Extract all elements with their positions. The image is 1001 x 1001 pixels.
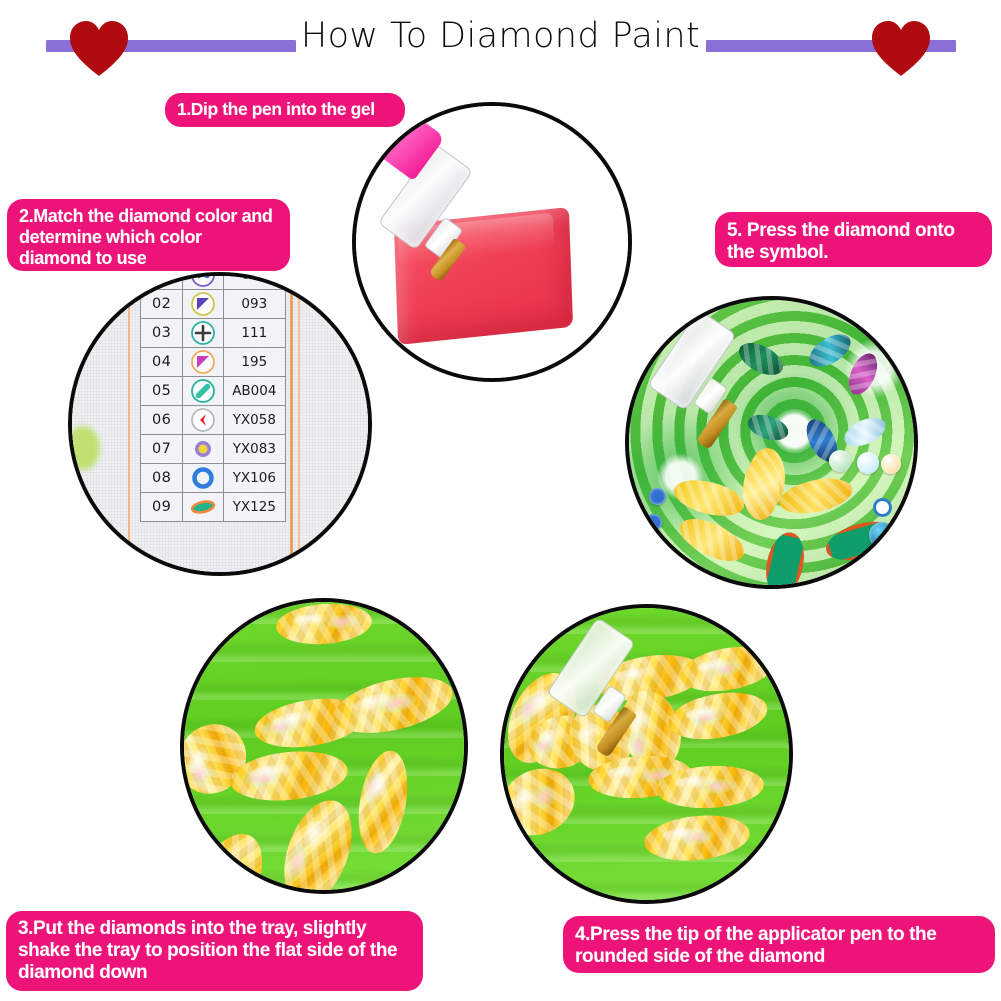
step-4-label: 4.Press the tip of the applicator pen to…	[563, 916, 995, 973]
color-chart-row: 08YX106	[141, 464, 286, 493]
rhinestone-dot	[829, 450, 851, 472]
triangle-circle-symbol	[183, 290, 223, 319]
rhinestone-dot	[857, 452, 879, 474]
dot-ring-symbol	[183, 435, 223, 464]
chart-cell-number: 05	[141, 377, 183, 406]
rhinestone-dot	[881, 454, 901, 474]
triangle-circle-symbol	[183, 348, 223, 377]
chart-cell-number: 04	[141, 348, 183, 377]
applicator-pen	[651, 308, 801, 488]
printed-dot	[873, 498, 892, 517]
double-dot-circle-symbol	[183, 272, 223, 290]
ring-circle-symbol	[183, 464, 223, 493]
diamond-gem	[275, 601, 374, 648]
rhinestone-dot	[869, 522, 895, 548]
chart-cell-code: YX106	[223, 464, 285, 493]
leaf-symbol	[183, 493, 223, 522]
color-chart-row: 04195	[141, 348, 286, 377]
color-chart-row: 01028	[141, 272, 286, 290]
color-chart-table: 0102802093031110419505AB00406YX05807YX08…	[140, 272, 286, 522]
chart-cell-code: 028	[223, 272, 285, 290]
canvas-guide-line	[290, 276, 293, 572]
applicator-pen	[370, 112, 500, 302]
chart-cell-number: 06	[141, 406, 183, 435]
photo-pen-dipping-gel	[352, 102, 632, 382]
chart-cell-number: 03	[141, 319, 183, 348]
photo-pen-picking-diamond	[500, 604, 793, 904]
chart-cell-code: 111	[223, 319, 285, 348]
canvas-guide-line	[128, 276, 130, 572]
plus-circle-symbol	[183, 319, 223, 348]
chart-cell-number: 09	[141, 493, 183, 522]
chevron-circle-symbol	[183, 406, 223, 435]
chart-cell-code: YX083	[223, 435, 285, 464]
photo-color-chart: 0102802093031110419505AB00406YX05807YX08…	[68, 272, 372, 576]
chart-cell-code: AB004	[223, 377, 285, 406]
page-title: How To Diamond Paint	[0, 16, 1001, 56]
step-5-label: 5. Press the diamond onto the symbol.	[715, 212, 992, 267]
blurred-gem	[84, 520, 110, 542]
infographic-root: How To Diamond Paint 1.Dip the pen into …	[0, 0, 1001, 1001]
printed-dot	[645, 514, 662, 531]
slash-circle-symbol	[183, 377, 223, 406]
color-chart-row: 02093	[141, 290, 286, 319]
color-chart-row: 03111	[141, 319, 286, 348]
color-chart-row: 07YX083	[141, 435, 286, 464]
photo-diamonds-in-tray	[180, 598, 468, 894]
chart-cell-code: YX058	[223, 406, 285, 435]
chart-cell-number: 07	[141, 435, 183, 464]
canvas-guide-line	[298, 276, 300, 572]
color-chart-row: 09YX125	[141, 493, 286, 522]
chart-cell-code: 093	[223, 290, 285, 319]
printed-dot	[649, 488, 666, 505]
chart-cell-code: 195	[223, 348, 285, 377]
applicator-pen	[550, 616, 700, 796]
chart-cell-number: 01	[141, 272, 183, 290]
step-3-label: 3.Put the diamonds into the tray, slight…	[6, 911, 423, 991]
photo-diamond-onto-symbol	[625, 296, 918, 589]
chart-cell-number: 02	[141, 290, 183, 319]
step-2-label: 2.Match the diamond color and determine …	[7, 199, 290, 271]
color-chart-row: 06YX058	[141, 406, 286, 435]
chart-cell-code: YX125	[223, 493, 285, 522]
color-chart-row: 05AB004	[141, 377, 286, 406]
header: How To Diamond Paint	[0, 0, 1001, 88]
chart-cell-number: 08	[141, 464, 183, 493]
